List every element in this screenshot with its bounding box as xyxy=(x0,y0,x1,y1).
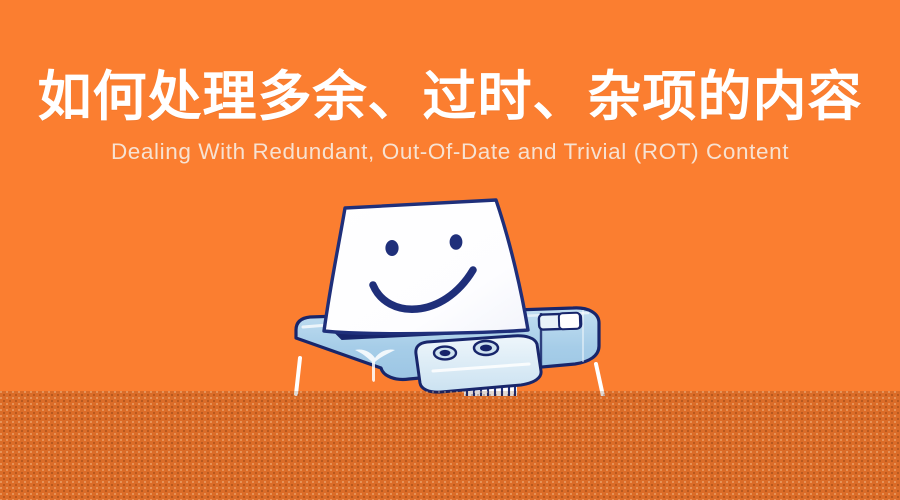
smiling-paper-sheet xyxy=(324,200,528,334)
control-knob-right[interactable] xyxy=(474,341,498,355)
dotted-shade-overlay xyxy=(0,391,900,500)
dot-pattern xyxy=(0,391,900,500)
slide-canvas: 如何处理多余、过时、杂项的内容 Dealing With Redundant, … xyxy=(0,0,900,500)
leg-right xyxy=(596,364,603,396)
leg-left xyxy=(296,358,300,394)
title-block: 如何处理多余、过时、杂项的内容 Dealing With Redundant, … xyxy=(0,0,900,164)
power-toggle-switch[interactable] xyxy=(539,313,581,330)
control-knob-left[interactable] xyxy=(434,347,456,360)
page-title: 如何处理多余、过时、杂项的内容 xyxy=(0,0,900,124)
shredder-illustration xyxy=(283,186,633,396)
smiley-right-eye xyxy=(450,234,463,250)
page-subtitle: Dealing With Redundant, Out-Of-Date and … xyxy=(0,124,900,164)
smiley-left-eye xyxy=(385,240,398,256)
